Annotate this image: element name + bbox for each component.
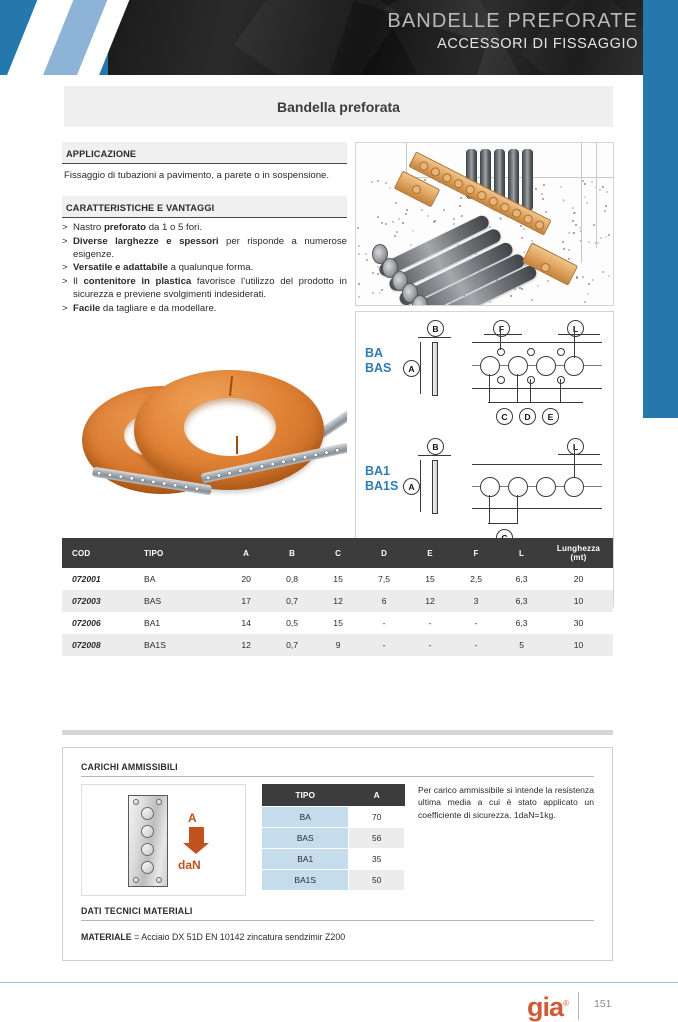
floor-speckle [365, 253, 367, 255]
floor-speckle [597, 242, 599, 244]
band-perforation [119, 474, 122, 477]
floor-speckle [608, 275, 610, 277]
floor-speckle [433, 221, 435, 223]
floor-speckle [568, 232, 570, 234]
band-perforation [173, 483, 176, 486]
table-row: 072003BAS170,71261236,310 [62, 590, 613, 612]
floor-speckle [572, 220, 574, 222]
floor-speckle [514, 288, 516, 290]
floor-speckle [405, 213, 407, 215]
col-header-tipo: TIPO [134, 538, 223, 568]
callout-d: D [519, 408, 536, 425]
dim-line [420, 460, 421, 512]
table-header-row: COD TIPO A B C D E F L Lunghezza(mt) [62, 538, 613, 568]
band-perforation [238, 469, 242, 473]
table-row: 072008BA1S120,79---510 [62, 634, 613, 656]
floor-speckle [396, 231, 398, 233]
cell-cod: 072006 [62, 612, 134, 634]
ext-line [517, 495, 518, 523]
cell-lung: 10 [544, 634, 613, 656]
floor-speckle [582, 276, 584, 278]
left-column: APPLICAZIONE Fissaggio di tubazioni a pa… [62, 142, 347, 315]
strap-section-view [432, 342, 438, 396]
plate-hole [141, 825, 154, 838]
band-perforation [335, 448, 339, 452]
floor-speckle [537, 285, 539, 287]
drawing-hole-small [497, 376, 505, 384]
floor-speckle [523, 251, 525, 253]
load-table-row: BA135 [262, 849, 405, 870]
cell-tipo: BA1 [134, 612, 223, 634]
caratteristiche-bullet: Il contenitore in plastica favorisce l’u… [62, 275, 347, 301]
dati-tecnici-heading: DATI TECNICI MATERIALI [81, 906, 594, 916]
brand-logo: gia® [527, 994, 568, 1021]
floor-speckle [576, 277, 578, 279]
floor-speckle [587, 293, 589, 295]
floor-speckle [586, 202, 588, 204]
floor-speckle [377, 216, 379, 218]
plan-top-edge [472, 464, 602, 465]
header-text-group: BANDELLE PREFORATE ACCESSORI DI FISSAGGI… [387, 10, 638, 52]
ext-line [530, 379, 531, 402]
divider [81, 920, 594, 921]
applicazione-heading: APPLICAZIONE [66, 149, 136, 159]
dim-line [488, 402, 583, 403]
plate-hole-small [133, 799, 139, 805]
cell-tipo: BAS [134, 590, 223, 612]
ext-line [560, 379, 561, 402]
dim-line [420, 342, 421, 394]
floor-speckle [489, 226, 491, 228]
floor-speckle [453, 218, 455, 220]
band-perforation [195, 486, 198, 489]
drawing-label-ba: BA BAS [365, 346, 391, 376]
col-header-a: A [223, 538, 269, 568]
page-number: 151 [594, 998, 612, 1010]
cell-cod: 072003 [62, 590, 134, 612]
col-header-e: E [407, 538, 453, 568]
page-header: BANDELLE PREFORATE ACCESSORI DI FISSAGGI… [0, 0, 678, 75]
dim-line [484, 334, 522, 335]
band-perforation [325, 450, 329, 454]
band-perforation [303, 455, 307, 459]
floor-speckle [377, 180, 379, 182]
ext-line [489, 374, 490, 402]
carichi-note: Per carico ammissibile si intende la res… [418, 784, 594, 821]
floor-speckle [606, 191, 608, 193]
table-row: 072001BA200,8157,5152,56,320 [62, 568, 613, 590]
band-perforation [108, 473, 111, 476]
strap-perforation [499, 201, 511, 213]
floor-speckle [584, 196, 586, 198]
cell-d: 6 [361, 590, 407, 612]
strap-perforation [418, 160, 430, 172]
load-diagram: A daN [81, 784, 246, 896]
materiale-line: MATERIALE = Acciaio DX 51D EN 10142 zinc… [81, 932, 594, 942]
floor-speckle [575, 224, 577, 226]
floor-speckle [381, 222, 383, 224]
floor-speckle [593, 224, 595, 226]
floor-speckle [588, 241, 590, 243]
callout-e: E [542, 408, 559, 425]
cell-l: 6,3 [499, 612, 544, 634]
anchor-hole [412, 185, 421, 194]
floor-speckle [366, 259, 368, 261]
floor-speckle [523, 228, 525, 230]
cell-e: - [407, 612, 453, 634]
floor-speckle [385, 223, 387, 225]
floor-speckle [568, 258, 570, 260]
cell-f: - [453, 612, 499, 634]
drawing-hole-small [527, 376, 535, 384]
floor-speckle [547, 280, 549, 282]
strap-perforation [429, 166, 441, 178]
materiale-value: = Acciaio DX 51D EN 10142 zincatura send… [132, 932, 345, 942]
strap-perforation [441, 172, 453, 184]
floor-speckle [379, 292, 381, 294]
table-bottom-bar [62, 730, 613, 735]
product-photo-coils [62, 358, 347, 538]
cell-tipo: BA1S [134, 634, 223, 656]
floor-speckle [535, 188, 537, 190]
carichi-ammissibili-panel: CARICHI AMMISSIBILI A daN TIPO A [62, 747, 613, 961]
drawing-hole-small [557, 376, 565, 384]
wall-edge [581, 143, 582, 263]
floor-speckle [510, 295, 512, 297]
floor-speckle [461, 215, 463, 217]
band-perforation [141, 478, 144, 481]
floor-speckle [372, 292, 374, 294]
col-header-l: L [499, 538, 544, 568]
floor-speckle [543, 184, 545, 186]
load-cell-a: 56 [349, 828, 405, 849]
ext-line [517, 374, 518, 402]
plan-bottom-edge [472, 508, 602, 509]
load-cell-tipo: BA1S [262, 870, 349, 891]
floor-speckle [385, 182, 387, 184]
plate-hole [141, 861, 154, 874]
cell-b: 0,7 [269, 634, 315, 656]
floor-speckle [531, 299, 533, 301]
cell-cod: 072008 [62, 634, 134, 656]
cell-d: - [361, 634, 407, 656]
load-table-header-row: TIPO A [262, 784, 405, 807]
band-perforation [282, 459, 286, 463]
drawing-hole-large [508, 477, 528, 497]
carichi-heading: CARICHI AMMISSIBILI [81, 762, 594, 772]
floor-speckle [562, 241, 564, 243]
drawing-hole-small [527, 348, 535, 356]
floor-speckle [600, 237, 602, 239]
band-perforation [228, 471, 232, 475]
load-table-row: BAS56 [262, 828, 405, 849]
installation-illustration [355, 142, 614, 306]
caratteristiche-heading: CARATTERISTICHE E VANTAGGI [66, 203, 214, 213]
dim-line [418, 337, 451, 338]
callout-b-2: B [427, 438, 444, 455]
floor-speckle [588, 283, 590, 285]
load-label-a: A [188, 811, 197, 825]
caratteristiche-bullet: Nastro preforato da 1 o 5 fori. [62, 221, 347, 234]
cell-b: 0,7 [269, 590, 315, 612]
header-title: BANDELLE PREFORATE [387, 10, 638, 33]
load-cell-tipo: BA [262, 807, 349, 828]
cell-a: 12 [223, 634, 269, 656]
table-row: 072006BA1140,515---6,330 [62, 612, 613, 634]
strap-perforation [534, 219, 546, 231]
product-title-box: Bandella preforata [64, 86, 613, 127]
cell-a: 14 [223, 612, 269, 634]
floor-speckle [402, 222, 404, 224]
floor-speckle [377, 273, 379, 275]
floor-speckle [371, 181, 373, 183]
floor-speckle [560, 186, 562, 188]
floor-speckle [394, 235, 396, 237]
floor-speckle [358, 283, 360, 285]
band-perforation [292, 457, 296, 461]
col-header-cod: COD [62, 538, 134, 568]
floor-speckle [443, 209, 445, 211]
col-header-d: D [361, 538, 407, 568]
ext-line [574, 446, 575, 478]
plate-hole [141, 843, 154, 856]
floor-speckle [592, 279, 594, 281]
col-header-lunghezza: Lunghezza(mt) [544, 538, 613, 568]
dati-tecnici-section: DATI TECNICI MATERIALI MATERIALE = Accia… [81, 906, 594, 942]
callout-l-2: L [567, 438, 584, 455]
band-perforation [249, 466, 253, 470]
load-table-row: BA70 [262, 807, 405, 828]
cell-d: - [361, 612, 407, 634]
floor-speckle [358, 245, 360, 247]
callout-a-1: A [403, 360, 420, 377]
callout-b-1: B [427, 320, 444, 337]
caratteristiche-bullet: Diverse larghezze e spessori per rispond… [62, 235, 347, 261]
caratteristiche-list: Nastro preforato da 1 o 5 fori.Diverse l… [62, 218, 347, 314]
page-title: Bandella preforata [277, 99, 400, 115]
floor-speckle [372, 272, 374, 274]
wall-edge [596, 143, 597, 248]
section-header-caratteristiche: CARATTERISTICHE E VANTAGGI [62, 196, 347, 218]
section-header-applicazione: APPLICAZIONE [62, 142, 347, 164]
ext-line [489, 495, 490, 523]
materiale-label: MATERIALE [81, 932, 132, 942]
floor-speckle [392, 221, 394, 223]
plastic-reel-front-hole [184, 398, 276, 456]
band-perforation [163, 481, 166, 484]
floor-speckle [389, 187, 391, 189]
floor-speckle [584, 183, 586, 185]
band-perforation [314, 453, 318, 457]
strap-perforation [510, 207, 522, 219]
floor-speckle [541, 193, 543, 195]
load-arrow-shaft [189, 827, 204, 844]
floor-speckle [608, 234, 610, 236]
floor-speckle [582, 180, 584, 182]
cell-lung: 30 [544, 612, 613, 634]
cell-f: 2,5 [453, 568, 499, 590]
col-header-b: B [269, 538, 315, 568]
caratteristiche-bullet: Versatile e adattabile a qualunque forma… [62, 261, 347, 274]
col-header-f: F [453, 538, 499, 568]
floor-speckle [412, 230, 414, 232]
page-body: Bandella preforata APPLICAZIONE Fissaggi… [0, 75, 678, 959]
band-perforation [217, 473, 221, 477]
cell-f: 3 [453, 590, 499, 612]
drawing-hole-large [508, 356, 528, 376]
load-arrow-head [183, 843, 209, 854]
cell-lung: 10 [544, 590, 613, 612]
floor-speckle [489, 301, 491, 303]
floor-speckle [563, 248, 565, 250]
cell-e: - [407, 634, 453, 656]
load-cell-a: 50 [349, 870, 405, 891]
floor-speckle [357, 227, 359, 229]
floor-speckle [521, 288, 523, 290]
load-cell-a: 70 [349, 807, 405, 828]
carichi-header: CARICHI AMMISSIBILI [81, 762, 594, 777]
load-cell-a: 35 [349, 849, 405, 870]
cell-c: 9 [315, 634, 361, 656]
floor-speckle [591, 181, 593, 183]
band-perforation [260, 464, 264, 468]
cell-b: 0,8 [269, 568, 315, 590]
ext-line [500, 326, 501, 350]
plate-hole-small [133, 877, 139, 883]
dim-line [418, 455, 451, 456]
cell-a: 17 [223, 590, 269, 612]
load-table-row: BA1S50 [262, 870, 405, 891]
load-cell-tipo: BA1 [262, 849, 349, 870]
drawing-hole-large [536, 356, 556, 376]
floor-speckle [395, 202, 397, 204]
cell-l: 5 [499, 634, 544, 656]
strap-perforation [522, 213, 534, 225]
callout-c-1: C [496, 408, 513, 425]
band-perforation [152, 480, 155, 483]
specifications-table: COD TIPO A B C D E F L Lunghezza(mt) 072… [62, 538, 613, 656]
floor-speckle [427, 215, 429, 217]
cell-b: 0,5 [269, 612, 315, 634]
floor-speckle [545, 211, 547, 213]
load-cell-tipo: BAS [262, 828, 349, 849]
floor-speckle [519, 287, 521, 289]
floor-speckle [604, 210, 606, 212]
plate-hole-small [156, 877, 162, 883]
caratteristiche-bullet: Facile da tagliare e da modellare. [62, 302, 347, 315]
drawing-label-ba1: BA1 BA1S [365, 464, 398, 494]
floor-speckle [410, 244, 412, 246]
ext-line [574, 326, 575, 358]
cell-lung: 20 [544, 568, 613, 590]
floor-speckle [500, 218, 502, 220]
floor-speckle [584, 301, 586, 303]
drawing-hole-large [480, 477, 500, 497]
floor-speckle [460, 197, 462, 199]
strap-perforation [476, 189, 488, 201]
floor-speckle [605, 205, 607, 207]
cell-a: 20 [223, 568, 269, 590]
band-perforation [271, 462, 275, 466]
load-col-a: A [349, 784, 405, 807]
floor-speckle [459, 205, 461, 207]
cell-tipo: BA [134, 568, 223, 590]
band-perforation [97, 471, 100, 474]
drawing-hole-large [564, 356, 584, 376]
plate-hole [141, 807, 154, 820]
floor-speckle [358, 253, 360, 255]
cell-f: - [453, 634, 499, 656]
strap-perforation [464, 184, 476, 196]
plan-bottom-edge [472, 388, 602, 389]
floor-speckle [520, 225, 522, 227]
cell-cod: 072001 [62, 568, 134, 590]
floor-speckle [398, 218, 400, 220]
cell-e: 12 [407, 590, 453, 612]
dim-line [488, 523, 518, 524]
floor-speckle [599, 189, 601, 191]
applicazione-body: Fissaggio di tubazioni a pavimento, a pa… [62, 164, 347, 182]
cell-e: 15 [407, 568, 453, 590]
floor-speckle [521, 237, 523, 239]
cell-c: 15 [315, 568, 361, 590]
floor-speckle [406, 209, 408, 211]
cell-c: 15 [315, 612, 361, 634]
anchor-hole [541, 263, 550, 272]
floor-speckle [573, 212, 575, 214]
floor-speckle [568, 249, 570, 251]
header-subtitle: ACCESSORI DI FISSAGGIO [387, 36, 638, 52]
band-perforation [184, 485, 187, 488]
reel-slot [236, 436, 238, 454]
cell-l: 6,3 [499, 568, 544, 590]
band-perforation [130, 476, 133, 479]
band-perforation [206, 475, 210, 479]
floor-speckle [358, 296, 360, 298]
drawing-hole-small [557, 348, 565, 356]
callout-a-2: A [403, 478, 420, 495]
floor-speckle [602, 186, 604, 188]
cell-c: 12 [315, 590, 361, 612]
drawing-hole-large [480, 356, 500, 376]
load-unit-label: daN [178, 858, 201, 872]
footer-rule [0, 982, 678, 983]
dim-line [558, 454, 600, 455]
floor-speckle [572, 207, 574, 209]
footer-divider [578, 992, 579, 1020]
cell-l: 6,3 [499, 590, 544, 612]
col-header-c: C [315, 538, 361, 568]
floor-speckle [453, 223, 455, 225]
vertical-pipe [522, 149, 533, 211]
divider [81, 776, 594, 777]
floor-speckle [605, 236, 607, 238]
floor-speckle [573, 232, 575, 234]
strap-perforation [487, 195, 499, 207]
cell-d: 7,5 [361, 568, 407, 590]
load-table: TIPO A BA70BAS56BA135BA1S50 [261, 784, 405, 891]
drawing-hole-large [536, 477, 556, 497]
drawing-hole-large [564, 477, 584, 497]
floor-speckle [421, 209, 423, 211]
strap-perforation [453, 178, 465, 190]
drawing-hole-small [497, 348, 505, 356]
dim-line [558, 334, 600, 335]
load-col-tipo: TIPO [262, 784, 349, 807]
floor-speckle [381, 289, 383, 291]
plan-top-edge [472, 342, 602, 343]
strap-section-view [432, 460, 438, 514]
